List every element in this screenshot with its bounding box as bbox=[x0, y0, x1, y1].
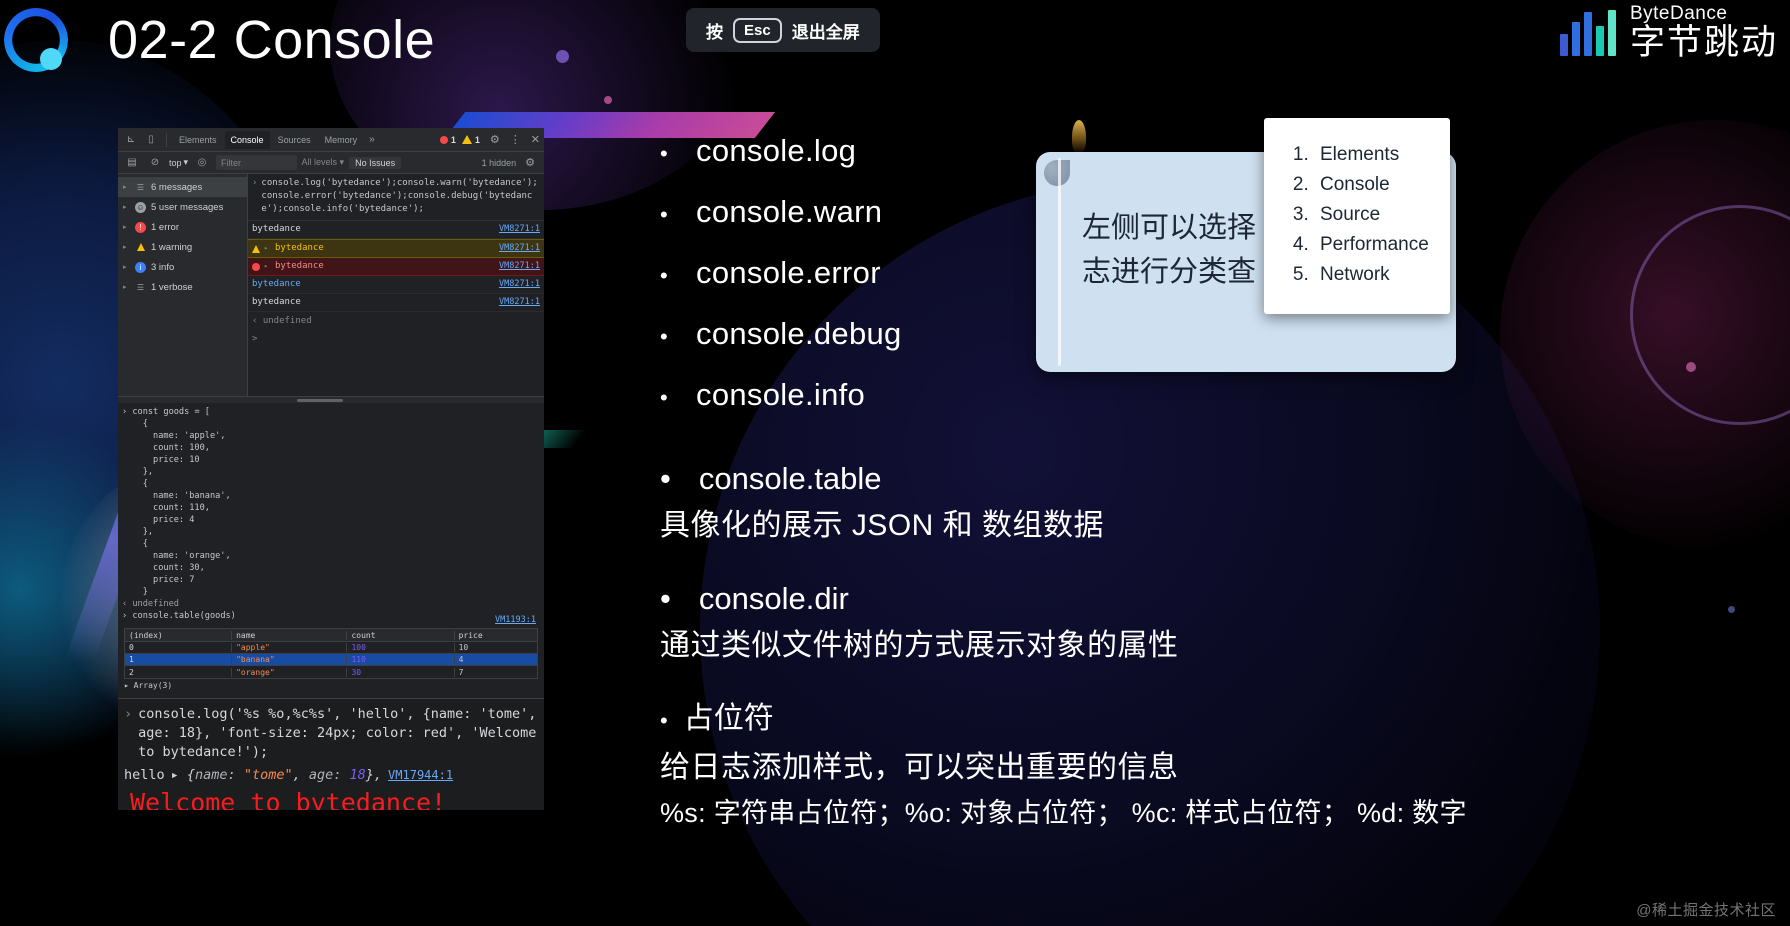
clear-console-icon[interactable]: ⊘ bbox=[146, 155, 164, 171]
sidebar-item-user-messages[interactable]: ▸ ☺ 5 user messages bbox=[118, 197, 247, 217]
warning-count: 1 bbox=[475, 135, 480, 145]
esc-banner-suffix: 退出全屏 bbox=[792, 18, 860, 43]
warning-icon bbox=[135, 242, 146, 253]
bytedance-logo: ByteDance 字节跳动 bbox=[1560, 4, 1778, 62]
code-line: count: 100, bbox=[122, 442, 540, 454]
code-line: price: 7 bbox=[122, 574, 540, 586]
code-line: name: 'apple', bbox=[122, 430, 540, 442]
console-settings-gear-icon[interactable]: ⚙ bbox=[521, 156, 539, 169]
page-title: 02-2 Console bbox=[108, 6, 435, 74]
sidebar-item-messages[interactable]: ▸ ☰ 6 messages bbox=[118, 177, 247, 197]
console-table-description: 具像化的展示 JSON 和 数组数据 bbox=[660, 503, 1280, 549]
array-summary: Array(3) bbox=[134, 681, 173, 690]
context-selector[interactable]: top ▾ bbox=[169, 157, 188, 168]
bullet-icon: • bbox=[660, 697, 668, 745]
bullet-icon: • bbox=[660, 455, 671, 503]
sidebar-item-label: 6 messages bbox=[151, 182, 202, 193]
chevron-right-icon: ▸ bbox=[264, 242, 271, 255]
log-message: bytedance bbox=[252, 278, 301, 291]
console-dir-description: 通过类似文件树的方式展示对象的属性 bbox=[660, 623, 1280, 669]
column-header: price bbox=[455, 631, 537, 640]
object-preview[interactable]: ▸ {name: "tome", age: 18}, bbox=[171, 766, 382, 785]
bullet-icon: • bbox=[660, 265, 668, 287]
cell-price: 4 bbox=[455, 655, 537, 664]
filter-input[interactable]: Filter bbox=[216, 155, 296, 170]
verbose-icon: ☰ bbox=[135, 282, 146, 293]
issues-button[interactable]: No Issues bbox=[349, 157, 401, 169]
brand-name-cn: 字节跳动 bbox=[1630, 24, 1778, 62]
console-bottom-pane: › console.log('%s %o,%c%s', 'hello', {na… bbox=[118, 698, 544, 810]
panel-list-item[interactable]: Source bbox=[1314, 200, 1450, 230]
method-label: console.log bbox=[696, 120, 856, 181]
code-line: › const goods = [ bbox=[122, 406, 540, 418]
chevron-right-icon: › bbox=[252, 177, 257, 216]
error-count-badge[interactable]: 1 bbox=[440, 135, 456, 145]
cell-count: 100 bbox=[347, 643, 454, 652]
chevron-right-icon: ▸ bbox=[123, 283, 130, 291]
placeholder-list: %s: 字符串占位符；%o: 对象占位符； %c: 样式占位符； %d: 数字 bbox=[660, 791, 1280, 835]
method-label: console.warn bbox=[696, 181, 882, 242]
devtools-screenshot: ⊾ ▯ Elements Console Sources Memory » 1 … bbox=[118, 128, 544, 810]
tab-sources[interactable]: Sources bbox=[272, 131, 317, 149]
cell-name: "orange" bbox=[232, 668, 347, 677]
method-label: console.debug bbox=[696, 303, 902, 364]
bullet-icon: • bbox=[660, 575, 671, 623]
planet-ring-decor bbox=[1601, 176, 1790, 453]
sidebar-item-label: 1 verbose bbox=[151, 282, 193, 293]
console-table-item: • console.table bbox=[660, 455, 1280, 503]
warning-icon bbox=[462, 135, 472, 144]
code-line: name: 'orange', bbox=[122, 550, 540, 562]
sidebar-item-label: 1 warning bbox=[151, 242, 192, 253]
warning-count-badge[interactable]: 1 bbox=[462, 135, 480, 145]
console-dir-item: • console.dir bbox=[660, 575, 1280, 623]
close-icon[interactable]: ✕ bbox=[527, 133, 544, 146]
source-link[interactable]: VM8271:1 bbox=[499, 223, 540, 236]
candle-decor bbox=[1072, 120, 1086, 154]
styled-log-message: Welcome to bytedance! bbox=[124, 785, 538, 810]
log-message: bytedance bbox=[275, 242, 324, 255]
obj-key: age: bbox=[309, 767, 342, 783]
code-line: { bbox=[122, 478, 540, 490]
chevron-down-icon: ▾ bbox=[184, 157, 189, 168]
bullet-icon: • bbox=[660, 143, 668, 165]
code-line: price: 4 bbox=[122, 514, 540, 526]
method-label: console.table bbox=[699, 455, 882, 503]
tabs-overflow-icon[interactable]: » bbox=[365, 134, 379, 145]
code-line: count: 110, bbox=[122, 502, 540, 514]
table-call-line: › console.table(goods) bbox=[122, 610, 540, 622]
console-log-area[interactable]: › console.log('bytedance');console.warn(… bbox=[248, 174, 544, 396]
log-message: bytedance bbox=[275, 260, 324, 273]
tab-memory[interactable]: Memory bbox=[319, 131, 364, 149]
panel-list-item[interactable]: Elements bbox=[1314, 140, 1450, 170]
brand-name-en: ByteDance bbox=[1630, 4, 1778, 24]
log-row[interactable]: bytedance VM8271:1 bbox=[248, 294, 544, 312]
table-row[interactable]: 1 "banana" 110 4 bbox=[125, 654, 537, 666]
log-row[interactable]: ▸ bytedance VM8271:1 bbox=[248, 239, 544, 258]
code-line: name: 'banana', bbox=[122, 490, 540, 502]
watermark: @稀土掘金技术社区 bbox=[1636, 899, 1776, 920]
warning-icon bbox=[252, 245, 260, 253]
inspect-icon[interactable]: ⊾ bbox=[122, 132, 140, 148]
sidebar-item-label: 3 info bbox=[151, 262, 174, 273]
devtools-tabbar: ⊾ ▯ Elements Console Sources Memory » 1 … bbox=[118, 128, 544, 152]
star-dot-decor bbox=[604, 96, 612, 104]
console-second-pane: › const goods = [ { name: 'apple', count… bbox=[118, 403, 544, 625]
code-text: const goods = [ bbox=[132, 407, 210, 417]
error-icon bbox=[440, 136, 448, 144]
console-table: (index) name count price 0 "apple" 100 1… bbox=[124, 628, 538, 679]
error-icon bbox=[252, 263, 260, 271]
esc-banner-prefix: 按 bbox=[706, 18, 723, 43]
cell-price: 7 bbox=[455, 668, 537, 677]
bar-chart-icon bbox=[1560, 10, 1616, 56]
code-line: count: 30, bbox=[122, 562, 540, 574]
code-line: { bbox=[122, 418, 540, 430]
undefined-value: undefined bbox=[132, 599, 179, 609]
chevron-right-icon: ▸ bbox=[123, 263, 130, 271]
table-row[interactable]: 0 "apple" 100 10 bbox=[125, 642, 537, 654]
chevron-right-icon: › bbox=[124, 705, 132, 762]
cell-count: 110 bbox=[347, 655, 454, 664]
cell-index: 0 bbox=[125, 643, 232, 652]
source-link[interactable]: VM17944:1 bbox=[388, 766, 453, 785]
messages-icon: ☰ bbox=[135, 182, 146, 193]
code-line: } bbox=[122, 586, 540, 598]
chevron-right-icon: ▸ bbox=[123, 243, 130, 251]
info-icon: i bbox=[135, 262, 146, 273]
device-toolbar-icon[interactable]: ▯ bbox=[142, 132, 160, 148]
note-spine-decor bbox=[1058, 158, 1061, 366]
list-item: •console.info bbox=[660, 364, 1280, 425]
bullet-icon: • bbox=[660, 204, 668, 226]
obj-value: "tome" bbox=[244, 767, 293, 783]
console-sidebar-icon[interactable]: ▤ bbox=[123, 155, 141, 171]
console-filterbar: ▤ ⊘ top ▾ ◎ Filter All levels ▾ No Issue… bbox=[118, 152, 544, 174]
chevron-right-icon: ▸ bbox=[123, 223, 130, 231]
cell-count: 30 bbox=[347, 668, 454, 677]
code-line: price: 10 bbox=[122, 454, 540, 466]
undefined-result: ‹ undefined bbox=[122, 598, 540, 610]
console-input-echo: › console.log('bytedance');console.warn(… bbox=[248, 174, 544, 221]
star-dot-decor bbox=[556, 50, 569, 63]
bullet-icon: • bbox=[660, 387, 668, 409]
sidebar-item-error[interactable]: ▸ ! 1 error bbox=[118, 217, 247, 237]
circle-ring-logo-icon bbox=[4, 8, 68, 72]
console-input-code: console.log('%s %o,%c%s', 'hello', {name… bbox=[138, 705, 538, 762]
console-body: ▸ ☰ 6 messages ▸ ☺ 5 user messages ▸ ! 1… bbox=[118, 174, 544, 396]
table-footer[interactable]: ▸ Array(3) bbox=[118, 679, 544, 692]
page-curl-icon bbox=[1044, 160, 1070, 186]
code-line: }, bbox=[122, 466, 540, 478]
context-value: top bbox=[169, 158, 182, 168]
source-link[interactable]: VM8271:1 bbox=[499, 278, 540, 291]
code-line: { bbox=[122, 538, 540, 550]
cell-index: 1 bbox=[125, 655, 232, 664]
panel-list-item[interactable]: Console bbox=[1314, 170, 1450, 200]
log-levels-value: All levels bbox=[302, 157, 338, 167]
log-row[interactable]: hello ▸ {name: "tome", age: 18}, VM17944… bbox=[124, 762, 538, 785]
log-message: hello bbox=[124, 766, 165, 785]
column-header: (index) bbox=[125, 631, 232, 640]
log-message: bytedance bbox=[252, 296, 301, 309]
log-row[interactable]: bytedance VM8271:1 bbox=[248, 276, 544, 294]
source-link[interactable]: VM8271:1 bbox=[499, 296, 540, 309]
slide-canvas: 02-2 Console 按 Esc 退出全屏 ByteDance 字节跳动 ⊾… bbox=[0, 0, 1790, 926]
cell-name: "banana" bbox=[232, 655, 347, 664]
log-levels-select[interactable]: All levels ▾ bbox=[302, 157, 345, 168]
placeholder-heading: • 占位符 bbox=[660, 695, 1280, 745]
method-label: console.info bbox=[696, 364, 865, 425]
bullet-icon: • bbox=[660, 326, 668, 348]
sidebar-item-warning[interactable]: ▸ 1 warning bbox=[118, 237, 247, 257]
console-prompt[interactable]: > bbox=[248, 331, 544, 348]
source-link[interactable]: VM8271:1 bbox=[499, 260, 540, 273]
cell-name: "apple" bbox=[232, 643, 347, 652]
cell-price: 10 bbox=[455, 643, 537, 652]
undefined-value: undefined bbox=[263, 316, 312, 326]
chevron-right-icon: ▸ bbox=[264, 260, 271, 273]
console-input-code: console.log('bytedance');console.warn('b… bbox=[261, 177, 540, 216]
method-label: console.error bbox=[696, 242, 881, 303]
sidebar-item-verbose[interactable]: ▸ ☰ 1 verbose bbox=[118, 277, 247, 297]
tab-console[interactable]: Console bbox=[225, 131, 270, 149]
log-result-undefined: ‹ undefined bbox=[248, 312, 544, 331]
log-row[interactable]: bytedance VM8271:1 bbox=[248, 221, 544, 239]
panel-list-item[interactable]: Performance bbox=[1314, 230, 1450, 260]
panel-resizer[interactable] bbox=[118, 396, 544, 403]
obj-value: 18 bbox=[350, 767, 366, 783]
log-message: bytedance bbox=[252, 223, 301, 236]
live-expression-icon[interactable]: ◎ bbox=[193, 155, 211, 171]
esc-key-cap: Esc bbox=[733, 18, 782, 43]
error-icon: ! bbox=[135, 222, 146, 233]
code-line: }, bbox=[122, 526, 540, 538]
tab-elements[interactable]: Elements bbox=[173, 131, 223, 149]
console-sidebar: ▸ ☰ 6 messages ▸ ☺ 5 user messages ▸ ! 1… bbox=[118, 174, 248, 396]
sidebar-item-info[interactable]: ▸ i 3 info bbox=[118, 257, 247, 277]
panel-list-item[interactable]: Network bbox=[1314, 260, 1450, 290]
error-count: 1 bbox=[451, 135, 456, 145]
hidden-count: 1 hidden bbox=[482, 158, 517, 168]
placeholder-description: 给日志添加样式，可以突出重要的信息 bbox=[660, 745, 1280, 791]
code-text: console.table(goods) bbox=[132, 611, 235, 621]
method-label: console.dir bbox=[699, 575, 849, 623]
panel-list: Elements Console Source Performance Netw… bbox=[1292, 140, 1450, 290]
table-row[interactable]: 2 "orange" 30 7 bbox=[125, 666, 537, 678]
source-link[interactable]: VM1193:1 bbox=[495, 615, 536, 625]
chevron-right-icon: ▸ bbox=[123, 183, 130, 191]
star-dot-decor bbox=[1728, 606, 1735, 613]
obj-key: name: bbox=[195, 767, 236, 783]
table-header-row: (index) name count price bbox=[125, 629, 537, 642]
log-row[interactable]: ▸ bytedance VM8271:1 bbox=[248, 258, 544, 276]
column-header: count bbox=[347, 631, 454, 640]
column-header: name bbox=[232, 631, 347, 640]
panel-list-tooltip: Elements Console Source Performance Netw… bbox=[1264, 118, 1450, 314]
cell-index: 2 bbox=[125, 668, 232, 677]
sidebar-item-label: 5 user messages bbox=[151, 202, 223, 213]
sidebar-item-label: 1 error bbox=[151, 222, 179, 233]
chevron-right-icon: ▸ bbox=[123, 203, 130, 211]
placeholder-label: 占位符 bbox=[684, 695, 774, 743]
source-link[interactable]: VM8271:1 bbox=[499, 242, 540, 255]
user-messages-icon: ☺ bbox=[135, 202, 146, 213]
exit-fullscreen-banner: 按 Esc 退出全屏 bbox=[686, 8, 880, 52]
kebab-menu-icon[interactable]: ⋮ bbox=[506, 133, 525, 146]
gear-icon[interactable]: ⚙ bbox=[486, 133, 504, 146]
